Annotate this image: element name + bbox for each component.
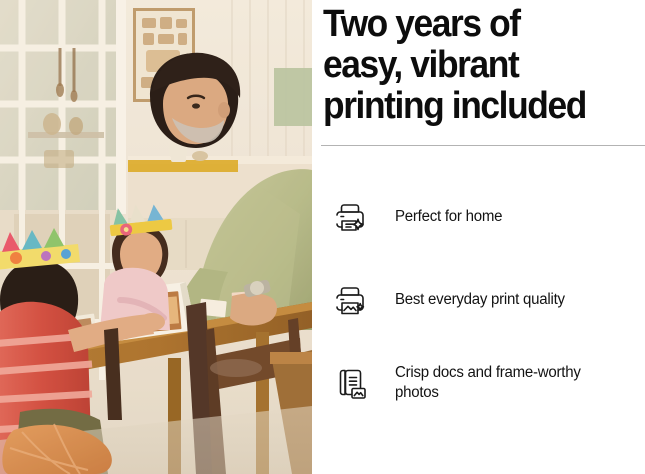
documents-photo-icon <box>326 359 374 407</box>
list-item: Crisp docs and frame-worthy photos <box>312 341 645 424</box>
photo-illustration <box>0 0 312 474</box>
feature-list: Perfect for home Best everyday print qu <box>312 175 645 424</box>
list-item-label: Best everyday print quality <box>395 290 565 310</box>
page-title: Two years of easy, vibrant printing incl… <box>323 4 616 127</box>
headline-line-1: Two years of <box>323 3 520 45</box>
list-item-label: Crisp docs and frame-worthy photos <box>395 363 616 403</box>
content-panel: Two years of easy, vibrant printing incl… <box>312 0 645 474</box>
list-item-label: Perfect for home <box>395 207 502 227</box>
headline-line-3: printing included <box>323 85 586 127</box>
printer-photo-icon <box>326 276 374 324</box>
list-item: Perfect for home <box>312 175 645 258</box>
promo-banner: Two years of easy, vibrant printing incl… <box>0 0 645 474</box>
lifestyle-photo <box>0 0 312 474</box>
headline-line-2: easy, vibrant <box>323 44 518 86</box>
list-item: Best everyday print quality <box>312 258 645 341</box>
printer-sparkle-icon <box>326 193 374 241</box>
section-divider <box>321 145 645 146</box>
